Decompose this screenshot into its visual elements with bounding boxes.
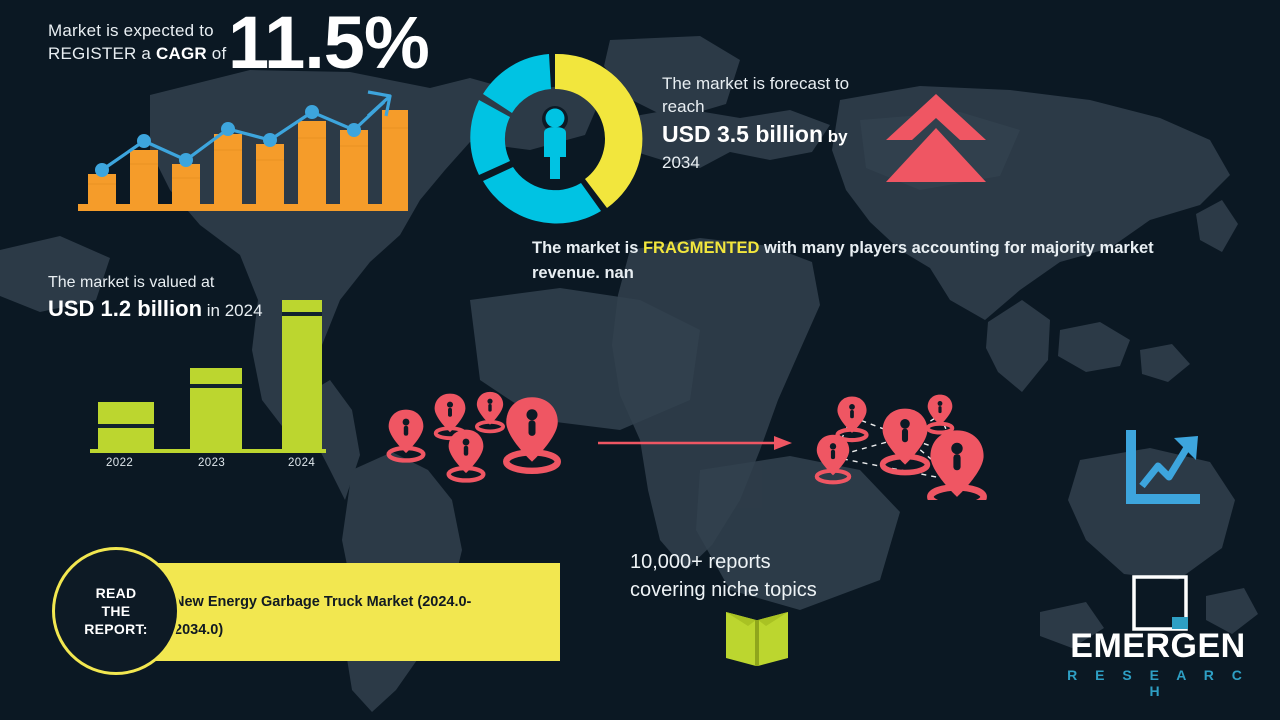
- emergen-research-logo: EMERGEN R E S E A R C H: [1058, 575, 1258, 700]
- fragmentation-highlight: FRAGMENTED: [643, 239, 759, 257]
- bar-label-2022: 2022: [106, 457, 133, 469]
- cagr-line-2-post: of: [207, 44, 227, 63]
- read-line-3: REPORT:: [84, 620, 148, 638]
- line-chart-growth-icon: [1122, 428, 1204, 508]
- market-value-bar-chart: 2022 2023 2024: [72, 290, 332, 470]
- forecast-year: 2034: [662, 151, 892, 174]
- report-title: New Energy Garbage Truck Market (2024.0-…: [174, 589, 514, 644]
- cagr-keyword: CAGR: [156, 44, 207, 63]
- logo-mark-icon: [1058, 575, 1258, 635]
- reports-line-1: 10,000+ reports: [630, 548, 960, 576]
- read-line-2: THE: [84, 602, 148, 620]
- forecast-line-1: The market is forecast to: [662, 72, 892, 95]
- infographic-canvas: Market is expected to REGISTER a CAGR of…: [0, 0, 1280, 720]
- reports-line-2: covering niche topics: [630, 576, 960, 604]
- arrow-right-icon: [596, 428, 796, 458]
- forecast-value-row: USD 3.5 billion by: [662, 119, 892, 151]
- cagr-value: 11.5%: [228, 6, 429, 80]
- market-share-donut: [460, 52, 650, 227]
- cagr-line-2-pre: REGISTER a: [48, 44, 156, 63]
- reports-caption: 10,000+ reports covering niche topics: [630, 548, 960, 605]
- fragmentation-caption: The market is FRAGMENTED with many playe…: [532, 236, 1212, 286]
- logo-name: EMERGEN: [1058, 627, 1258, 666]
- double-chevron-up-icon: [884, 92, 988, 184]
- growth-bar-chart: [68, 88, 408, 220]
- map-pin-cluster-scattered: [380, 385, 580, 490]
- forecast-value: USD 3.5 billion: [662, 121, 823, 147]
- map-pin-network: [805, 385, 1010, 500]
- forecast-line-2: reach: [662, 95, 892, 118]
- bar-label-2023: 2023: [198, 457, 225, 469]
- logo-subtitle: R E S E A R C H: [1058, 667, 1258, 699]
- read-the-report-badge[interactable]: READ THE REPORT:: [52, 547, 180, 675]
- forecast-caption: The market is forecast to reach USD 3.5 …: [662, 72, 892, 174]
- open-book-icon: [718, 610, 796, 670]
- read-line-1: READ: [84, 584, 148, 602]
- read-the-report-label: READ THE REPORT:: [84, 584, 148, 639]
- fragmentation-pre: The market is: [532, 239, 643, 257]
- forecast-by: by: [823, 127, 848, 146]
- report-banner[interactable]: New Energy Garbage Truck Market (2024.0-…: [152, 563, 560, 661]
- bar-label-2024: 2024: [288, 457, 315, 469]
